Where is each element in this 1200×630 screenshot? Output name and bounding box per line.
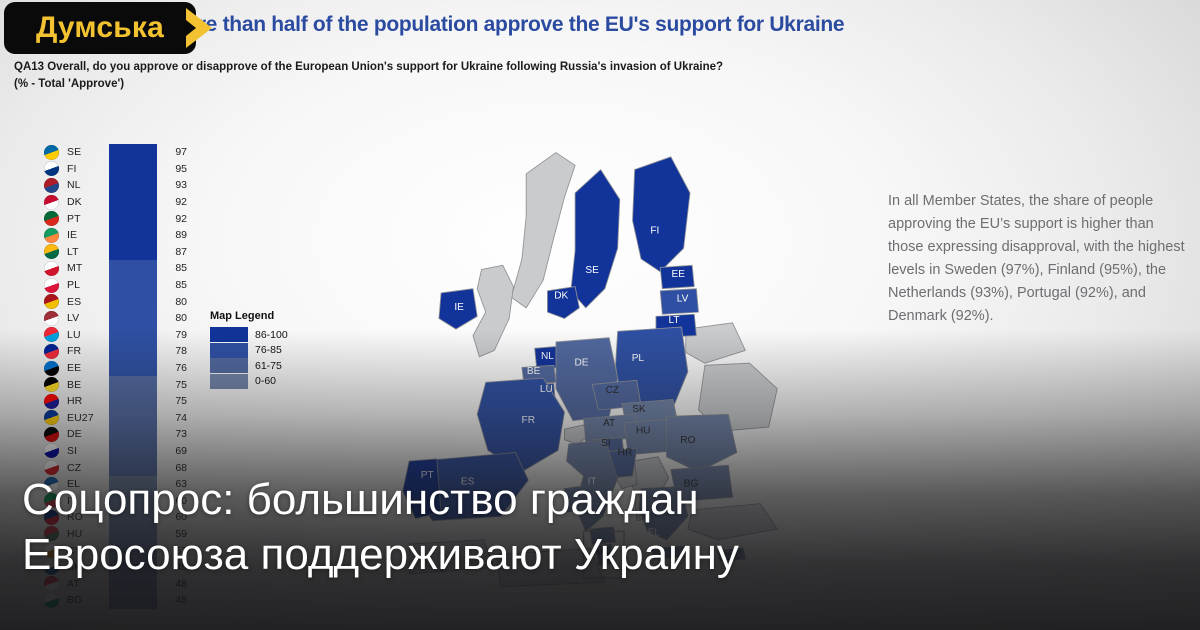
approval-value: 69 — [157, 445, 187, 457]
country-code: DK — [67, 196, 109, 208]
map-label-cz: CZ — [606, 385, 619, 396]
map-label-ie: IE — [454, 302, 464, 313]
country-RO — [667, 414, 737, 471]
map-label-fr: FR — [522, 415, 535, 426]
approval-bar — [109, 210, 157, 227]
country-flag-icon — [44, 377, 59, 392]
country-flag-icon — [44, 427, 59, 442]
map-label-ro: RO — [680, 435, 695, 446]
country-flag-icon — [44, 145, 59, 160]
country-code: DE — [67, 428, 109, 440]
ranking-row: LV80 — [44, 310, 190, 327]
country-code: MT — [67, 262, 109, 274]
approval-value: 78 — [157, 345, 187, 357]
country-flag-icon — [44, 410, 59, 425]
map-label-lt: LT — [669, 315, 680, 326]
map-legend-rows: 86-10076-8561-750-60 — [210, 327, 322, 389]
approval-value: 75 — [157, 395, 187, 407]
approval-value: 79 — [157, 329, 187, 341]
legend-color-swatch — [210, 327, 248, 342]
country-code: EE — [67, 362, 109, 374]
overlay-caption: Соцопрос: большинство граждан Евросоюза … — [22, 472, 1172, 582]
approval-bar — [109, 260, 157, 277]
approval-bar — [109, 376, 157, 393]
ranking-row: ES80 — [44, 293, 190, 310]
logo-text: Думська — [4, 2, 196, 54]
map-legend: Map Legend 86-10076-8561-750-60 — [210, 310, 322, 389]
country-flag-icon — [44, 228, 59, 243]
legend-color-swatch — [210, 358, 248, 373]
question-text: QA13 Overall, do you approve or disappro… — [14, 61, 723, 73]
country-flag-icon — [44, 443, 59, 458]
country-FI — [633, 157, 690, 272]
legend-range-label: 86-100 — [248, 329, 288, 341]
approval-bar — [109, 144, 157, 161]
caption-line-2: Евросоюза поддерживают Украину — [22, 527, 1172, 582]
ranking-row: FI95 — [44, 161, 190, 178]
approval-bar — [109, 277, 157, 294]
country-code: LT — [67, 246, 109, 258]
ranking-row: DE73 — [44, 426, 190, 443]
country-code: SE — [67, 146, 109, 158]
approval-value: 92 — [157, 196, 187, 208]
map-label-at: AT — [603, 418, 615, 429]
ranking-row: SI69 — [44, 443, 190, 460]
approval-value: 80 — [157, 296, 187, 308]
ranking-row: BE75 — [44, 376, 190, 393]
map-label-nl: NL — [541, 351, 554, 362]
country-flag-icon — [44, 244, 59, 259]
page-headline: s more than half of the population appro… — [150, 8, 1160, 42]
approval-value: 80 — [157, 312, 187, 324]
map-label-sk: SK — [632, 404, 646, 415]
map-label-fi: FI — [650, 225, 659, 236]
approval-bar — [109, 343, 157, 360]
country-NO — [511, 153, 575, 308]
approval-value: 87 — [157, 246, 187, 258]
ranking-row: MT85 — [44, 260, 190, 277]
survey-question: QA13 Overall, do you approve or disappro… — [14, 60, 804, 92]
approval-value: 89 — [157, 229, 187, 241]
country-flag-icon — [44, 178, 59, 193]
country-flag-icon — [44, 161, 59, 176]
country-code: BE — [67, 379, 109, 391]
approval-bar — [109, 410, 157, 427]
approval-value: 95 — [157, 163, 187, 175]
country-flag-icon — [44, 327, 59, 342]
country-code: IE — [67, 229, 109, 241]
caption-line-1: Соцопрос: большинство граждан — [22, 472, 1172, 527]
approval-bar — [109, 592, 157, 609]
legend-color-swatch — [210, 374, 248, 389]
ranking-row: EE76 — [44, 360, 190, 377]
country-flag-icon — [44, 195, 59, 210]
country-flag-icon — [44, 344, 59, 359]
ranking-row: HR75 — [44, 393, 190, 410]
country-code: HR — [67, 395, 109, 407]
dumska-logo[interactable]: Думська — [4, 2, 222, 54]
approval-bar — [109, 443, 157, 460]
map-legend-item: 61-75 — [210, 358, 322, 374]
approval-value: 73 — [157, 428, 187, 440]
country-code: NL — [67, 179, 109, 191]
country-code: FR — [67, 345, 109, 357]
approval-bar — [109, 393, 157, 410]
approval-value: 85 — [157, 279, 187, 291]
ranking-row: PT92 — [44, 210, 190, 227]
approval-bar — [109, 161, 157, 178]
country-code: PT — [67, 213, 109, 225]
country-flag-icon — [44, 311, 59, 326]
approval-value: 48 — [157, 594, 187, 606]
country-flag-icon — [44, 211, 59, 226]
map-label-dk: DK — [554, 290, 568, 301]
map-label-se: SE — [585, 265, 599, 276]
country-SE — [571, 170, 620, 308]
approval-bar — [109, 310, 157, 327]
approval-value: 76 — [157, 362, 187, 374]
map-label-hr: HR — [618, 448, 633, 459]
country-code: LV — [67, 312, 109, 324]
map-legend-item: 0-60 — [210, 374, 322, 390]
approval-value: 92 — [157, 213, 187, 225]
map-label-be: BE — [527, 366, 541, 377]
map-label-ee: EE — [672, 269, 686, 280]
country-code: ES — [67, 296, 109, 308]
legend-color-swatch — [210, 343, 248, 358]
approval-bar — [109, 227, 157, 244]
map-legend-title: Map Legend — [210, 310, 322, 322]
chevron-right-icon — [182, 6, 226, 50]
country-code: EU27 — [67, 412, 109, 424]
map-label-si: SI — [601, 438, 611, 449]
ranking-row: IE89 — [44, 227, 190, 244]
country-flag-icon — [44, 394, 59, 409]
country-code: FI — [67, 163, 109, 175]
country-code: BG — [67, 594, 109, 606]
ranking-row: LT87 — [44, 244, 190, 261]
approval-value: 93 — [157, 179, 187, 191]
country-UK — [473, 265, 513, 356]
ranking-row: NL93 — [44, 177, 190, 194]
map-label-hu: HU — [636, 425, 651, 436]
country-code: SI — [67, 445, 109, 457]
ranking-row: DK92 — [44, 194, 190, 211]
ranking-row: LU79 — [44, 327, 190, 344]
ranking-row: BG48 — [44, 592, 190, 609]
approval-bar — [109, 293, 157, 310]
approval-bar — [109, 244, 157, 261]
map-label-lu: LU — [540, 384, 553, 395]
country-flag-icon — [44, 261, 59, 276]
approval-value: 97 — [157, 146, 187, 158]
approval-value: 85 — [157, 262, 187, 274]
map-legend-item: 86-100 — [210, 327, 322, 343]
approval-value: 74 — [157, 412, 187, 424]
ranking-row: FR78 — [44, 343, 190, 360]
ranking-row: EU2774 — [44, 410, 190, 427]
map-label-de: DE — [574, 357, 588, 368]
country-flag-icon — [44, 294, 59, 309]
country-code: PL — [67, 279, 109, 291]
country-flag-icon — [44, 593, 59, 608]
approval-bar — [109, 360, 157, 377]
approval-bar — [109, 327, 157, 344]
country-code: LU — [67, 329, 109, 341]
country-flag-icon — [44, 278, 59, 293]
map-label-pl: PL — [632, 353, 645, 364]
country-flag-icon — [44, 361, 59, 376]
map-annotation-text: In all Member States, the share of peopl… — [888, 190, 1188, 328]
ranking-row: PL85 — [44, 277, 190, 294]
legend-range-label: 61-75 — [248, 360, 282, 372]
approval-bar — [109, 194, 157, 211]
map-legend-item: 76-85 — [210, 343, 322, 359]
legend-range-label: 76-85 — [248, 344, 282, 356]
legend-range-label: 0-60 — [248, 375, 276, 387]
approval-bar — [109, 177, 157, 194]
map-label-lv: LV — [677, 293, 689, 304]
percent-note: (% - Total 'Approve') — [14, 77, 804, 93]
approval-bar — [109, 426, 157, 443]
ranking-row: SE97 — [44, 144, 190, 161]
approval-value: 75 — [157, 379, 187, 391]
